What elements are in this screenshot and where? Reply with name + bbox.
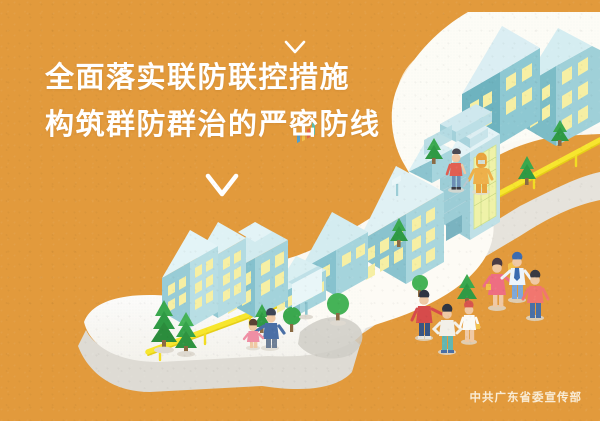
headline-line-2: 构筑群防群治的严密防线 [45,102,381,149]
headline-line-1: 全面落实联防联控措施 [45,55,381,102]
poster-canvas: 全面落实联防联控措施 构筑群防群治的严密防线 中共广东省委宣传部 [0,0,600,421]
page-title: 全面落实联防联控措施 构筑群防群治的严密防线 [45,55,381,149]
attribution-text: 中共广东省委宣传部 [470,389,583,405]
